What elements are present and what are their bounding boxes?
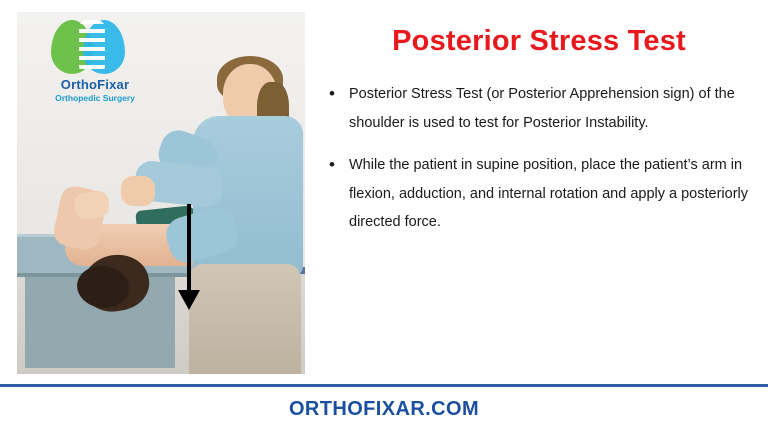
logo-spine-icon — [79, 20, 105, 74]
bullet-list: Posterior Stress Test (or Posterior Appr… — [325, 80, 753, 237]
slide-content: Posterior Stress Test Posterior Stress T… — [325, 18, 753, 251]
logo-mark-icon — [49, 18, 141, 76]
clinician-hand — [121, 176, 155, 206]
footer-bar: ORTHOFIXAR.COM — [0, 384, 768, 432]
orthofixar-logo: OrthoFixar Orthopedic Surgery — [35, 18, 155, 110]
force-arrow-head — [178, 290, 200, 310]
list-item: While the patient in supine position, pl… — [325, 151, 753, 237]
page-title: Posterior Stress Test — [325, 24, 753, 58]
slide: OrthoFixar Orthopedic Surgery Posterior … — [0, 0, 768, 432]
list-item: Posterior Stress Test (or Posterior Appr… — [325, 80, 753, 137]
footer-website: ORTHOFIXAR.COM — [289, 398, 479, 421]
clinical-photo: OrthoFixar Orthopedic Surgery — [17, 12, 305, 374]
logo-subtitle: Orthopedic Surgery — [35, 92, 155, 104]
force-arrow-shaft — [187, 204, 191, 294]
logo-name: OrthoFixar — [35, 78, 155, 92]
clinician-trousers — [189, 264, 301, 374]
